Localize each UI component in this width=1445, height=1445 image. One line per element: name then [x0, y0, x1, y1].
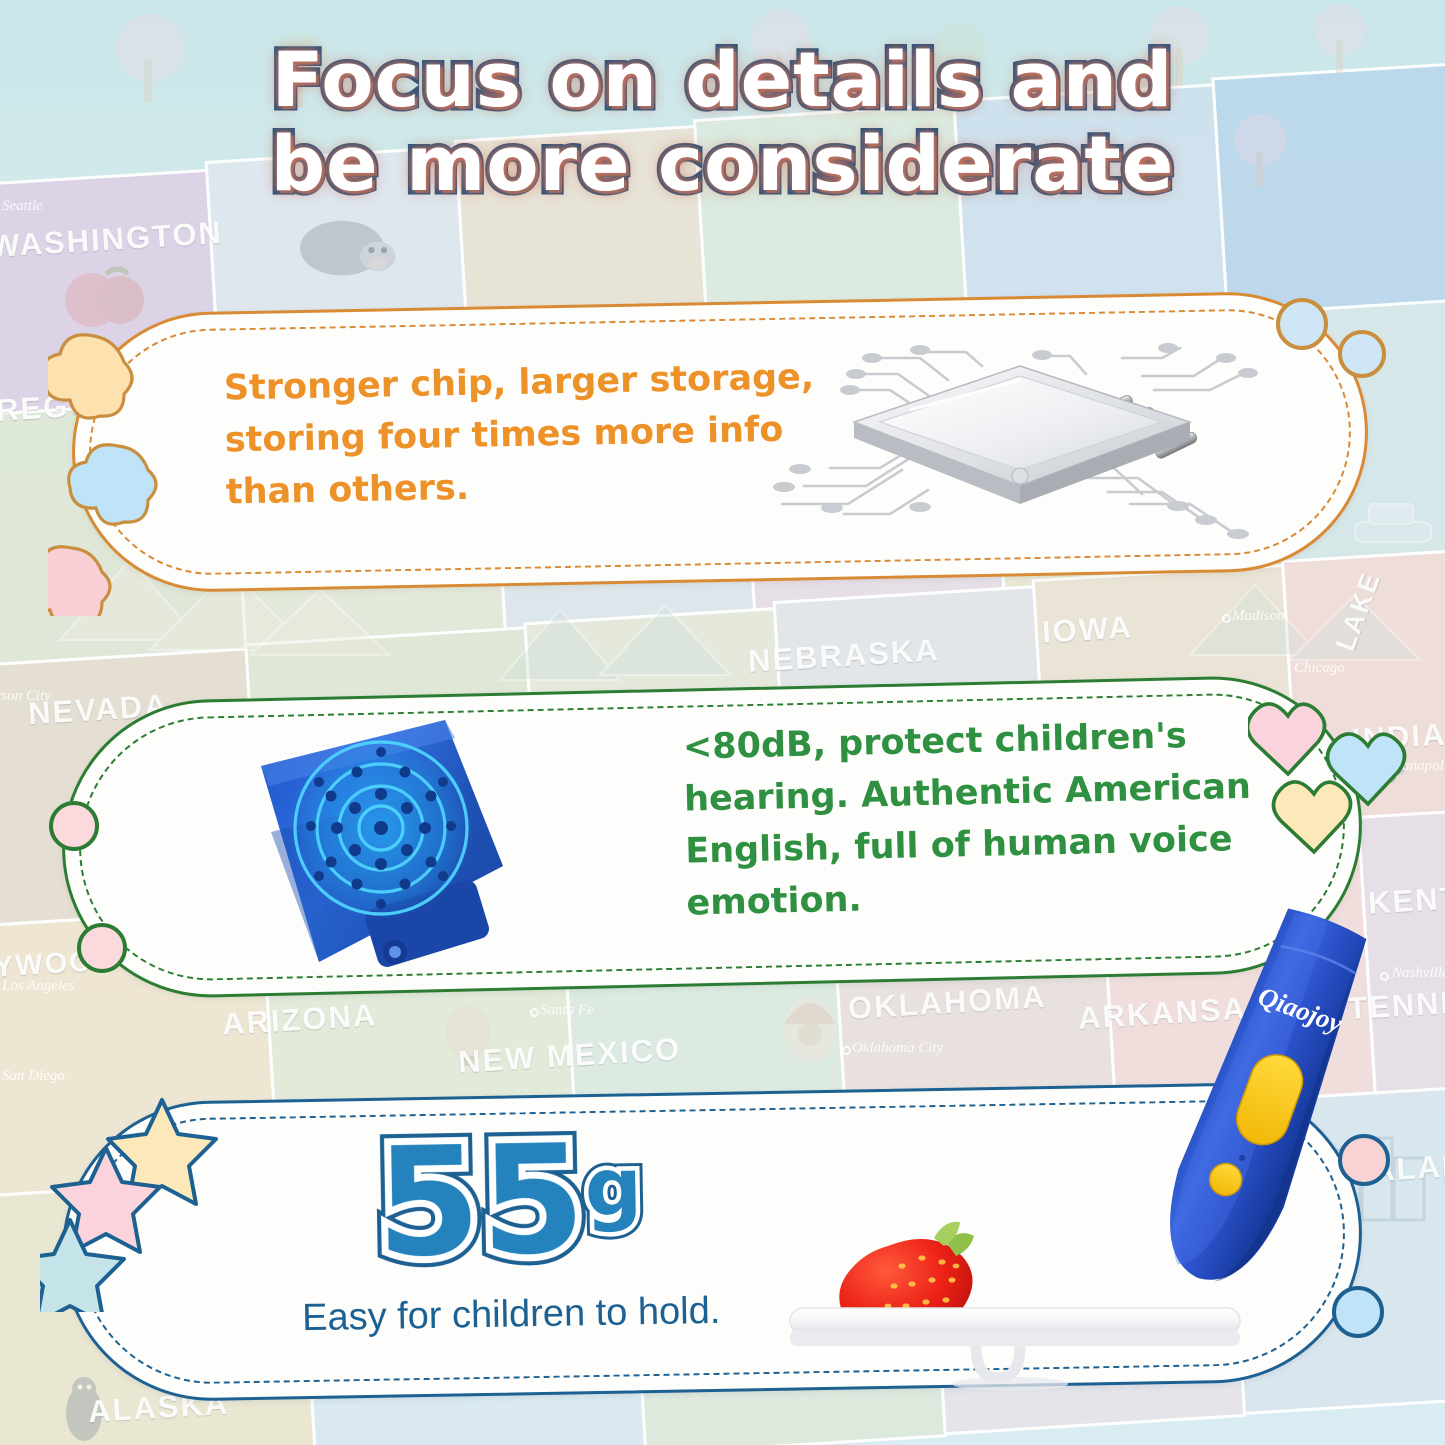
card1-right-decorations	[1268, 282, 1408, 412]
circle-deco-blue	[1340, 332, 1384, 376]
city-label: Chicago	[1294, 660, 1345, 677]
cloud-shape-pink	[48, 547, 110, 616]
title-line-2: be more considerate	[0, 122, 1445, 206]
circle-deco-pink	[79, 925, 125, 971]
card3-left-decorations	[40, 1092, 230, 1312]
state-label: IOWA	[1041, 609, 1134, 650]
title-line-1: Focus on details and	[0, 38, 1445, 122]
weight-display: 55g	[298, 1123, 721, 1280]
heart-deco-pink	[1248, 704, 1325, 774]
reading-pen-qiaojoy: Qiaojoy	[1128, 905, 1388, 1335]
weight-unit: g	[584, 1140, 643, 1234]
cloud-shape-blue	[69, 445, 156, 524]
page-title: Focus on details and be more considerate	[0, 38, 1445, 206]
audio-feature-text: <80dB, protect children's hearing. Authe…	[682, 708, 1297, 930]
cloud-shape-yellow	[48, 335, 132, 418]
city-dot	[530, 1008, 539, 1017]
city-label: San Diego	[2, 1068, 65, 1085]
city-label: Oklahoma City	[852, 1040, 943, 1057]
circle-deco-blue	[1278, 300, 1326, 348]
city-dot	[1222, 614, 1231, 623]
city-label: Nashville	[1392, 965, 1445, 982]
weight-caption: Easy for children to hold.	[261, 1289, 762, 1341]
chip-feature-text: Stronger chip, larger storage, storing f…	[223, 351, 846, 519]
microchip-photo	[770, 318, 1270, 553]
city-dot	[842, 1046, 851, 1055]
card2-left-decorations	[44, 796, 154, 996]
city-label: Carson City	[0, 688, 51, 705]
city-label: Madison	[1232, 608, 1285, 625]
scale-base	[976, 1346, 1020, 1378]
city-label: Santa Fe	[540, 1002, 594, 1019]
circle-deco-pink	[51, 803, 97, 849]
heart-deco-yellow	[1273, 782, 1350, 852]
weight-value: 55	[375, 1125, 586, 1279]
blue-speaker-module	[245, 700, 535, 985]
card2-right-decorations	[1248, 690, 1428, 870]
card1-left-decorations	[48, 316, 188, 616]
